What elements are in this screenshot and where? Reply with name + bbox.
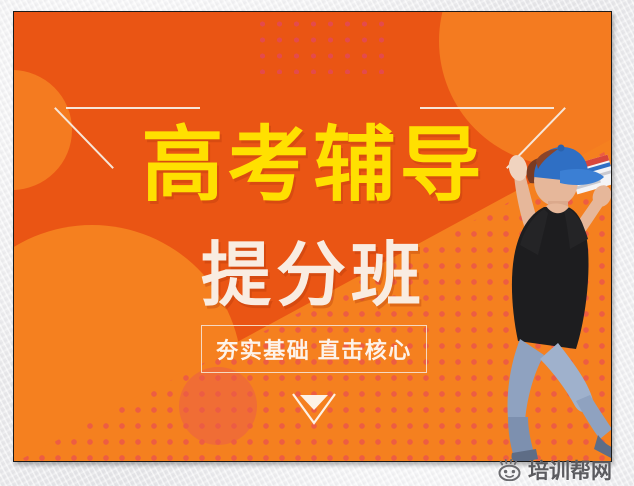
watermark: 培训帮网	[498, 455, 612, 485]
promo-banner[interactable]: 高考辅导 提分班 夯实基础 直击核心	[13, 11, 612, 462]
subtitle-text: 夯实基础 直击核心	[216, 333, 412, 365]
scroll-down-arrow[interactable]	[291, 392, 337, 426]
pink-dot-grid	[252, 14, 388, 74]
subtitle-box: 夯实基础 直击核心	[201, 325, 427, 373]
smiley-sun-icon	[498, 459, 522, 481]
watermark-text: 培训帮网	[528, 455, 612, 485]
triangle-down-icon	[300, 395, 328, 410]
page-root: 高考辅导 提分班 夯实基础 直击核心	[0, 0, 634, 486]
jumping-student-illustration	[452, 67, 612, 462]
bracket-left-bar	[66, 107, 200, 109]
